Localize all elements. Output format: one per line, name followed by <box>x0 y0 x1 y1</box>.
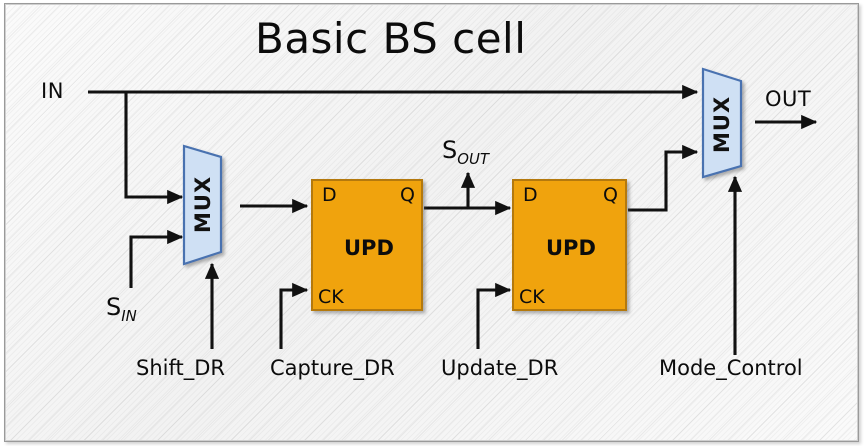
control-label-capture-dr: Capture_DR <box>270 358 395 379</box>
ff1-pin-ck: CK <box>318 288 344 307</box>
wire-in-branch-to-mux-left <box>126 92 182 197</box>
ff1-label: UPD <box>344 238 394 259</box>
ff2-pin-d: D <box>523 186 538 205</box>
wire-ff2-to-mux-right <box>628 152 697 210</box>
wire-scan-in-to-mux-left <box>131 237 182 288</box>
scan-out-subscript: OUT <box>457 150 489 168</box>
control-label-mode-control: Mode_Control <box>659 358 803 379</box>
scan-out-base: S <box>442 136 457 164</box>
port-out-label: OUT <box>765 89 811 110</box>
page-title: Basic BS cell <box>255 18 526 60</box>
ff1-pin-q: Q <box>400 186 415 205</box>
scan-in-subscript: IN <box>121 307 137 325</box>
ff2-pin-ck: CK <box>519 288 545 307</box>
mux-left-label: MUX <box>191 183 215 233</box>
ff2-label: UPD <box>546 238 596 259</box>
wire-capture-dr-to-ff1 <box>281 290 307 349</box>
ff1-pin-d: D <box>322 186 337 205</box>
control-label-update-dr: Update_DR <box>441 358 558 379</box>
scan-in-base: S <box>106 293 121 321</box>
control-label-shift-dr: Shift_DR <box>136 358 225 379</box>
diagram-canvas: Basic BS cell IN OUT SIN SOUT MUX MUX D … <box>0 0 864 446</box>
port-scan-in-label: SIN <box>106 295 137 324</box>
mux-right-label: MUX <box>710 103 734 153</box>
port-in-label: IN <box>41 81 64 102</box>
ff2-pin-q: Q <box>603 186 618 205</box>
wire-update-dr-to-ff2 <box>478 290 510 349</box>
port-scan-out-label: SOUT <box>442 138 489 167</box>
